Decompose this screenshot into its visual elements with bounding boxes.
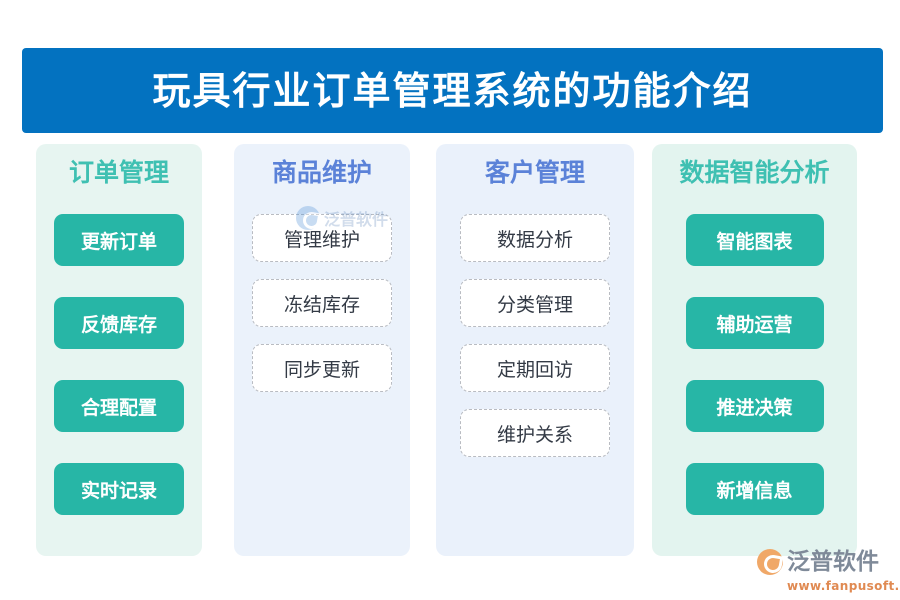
column-product-maintenance: 商品维护 管理维护 冻结库存 同步更新 (234, 144, 410, 556)
card-stack-order-management: 更新订单 反馈库存 合理配置 实时记录 (36, 214, 202, 546)
title-banner: 玩具行业订单管理系统的功能介绍 (22, 48, 883, 133)
feature-card[interactable]: 维护关系 (460, 409, 610, 457)
feature-columns: 订单管理 更新订单 反馈库存 合理配置 实时记录 商品维护 管理维护 冻结库存 … (0, 144, 900, 556)
feature-card[interactable]: 更新订单 (54, 214, 184, 266)
feature-card[interactable]: 推进决策 (686, 380, 824, 432)
feature-card[interactable]: 分类管理 (460, 279, 610, 327)
feature-card[interactable]: 辅助运营 (686, 297, 824, 349)
slide-canvas: 玩具行业订单管理系统的功能介绍 订单管理 更新订单 反馈库存 合理配置 实时记录… (0, 0, 900, 600)
fanpu-logo-icon (757, 549, 783, 575)
brand-url: www.fanpusoft.com (787, 579, 893, 593)
column-heading-data-intelligent-analysis: 数据智能分析 (652, 158, 857, 198)
feature-card[interactable]: 同步更新 (252, 344, 392, 392)
feature-card[interactable]: 智能图表 (686, 214, 824, 266)
card-stack-data-intelligent-analysis: 智能图表 辅助运营 推进决策 新增信息 (652, 214, 857, 546)
column-heading-order-management: 订单管理 (36, 158, 202, 198)
feature-card[interactable]: 冻结库存 (252, 279, 392, 327)
column-order-management: 订单管理 更新订单 反馈库存 合理配置 实时记录 (36, 144, 202, 556)
column-heading-customer-management: 客户管理 (436, 158, 634, 198)
feature-card[interactable]: 定期回访 (460, 344, 610, 392)
column-data-intelligent-analysis: 数据智能分析 智能图表 辅助运营 推进决策 新增信息 (652, 144, 857, 556)
feature-card[interactable]: 实时记录 (54, 463, 184, 515)
column-heading-product-maintenance: 商品维护 (234, 158, 410, 198)
brand-row: 泛普软件 (757, 548, 893, 576)
feature-card[interactable]: 管理维护 (252, 214, 392, 262)
brand-name: 泛普软件 (787, 551, 879, 574)
page-title: 玩具行业订单管理系统的功能介绍 (152, 72, 752, 110)
feature-card[interactable]: 数据分析 (460, 214, 610, 262)
feature-card[interactable]: 新增信息 (686, 463, 824, 515)
card-stack-product-maintenance: 管理维护 冻结库存 同步更新 (234, 214, 410, 409)
feature-card[interactable]: 反馈库存 (54, 297, 184, 349)
card-stack-customer-management: 数据分析 分类管理 定期回访 维护关系 (436, 214, 634, 474)
column-customer-management: 客户管理 数据分析 分类管理 定期回访 维护关系 (436, 144, 634, 556)
brand-logo: 泛普软件 www.fanpusoft.com (757, 548, 893, 594)
feature-card[interactable]: 合理配置 (54, 380, 184, 432)
